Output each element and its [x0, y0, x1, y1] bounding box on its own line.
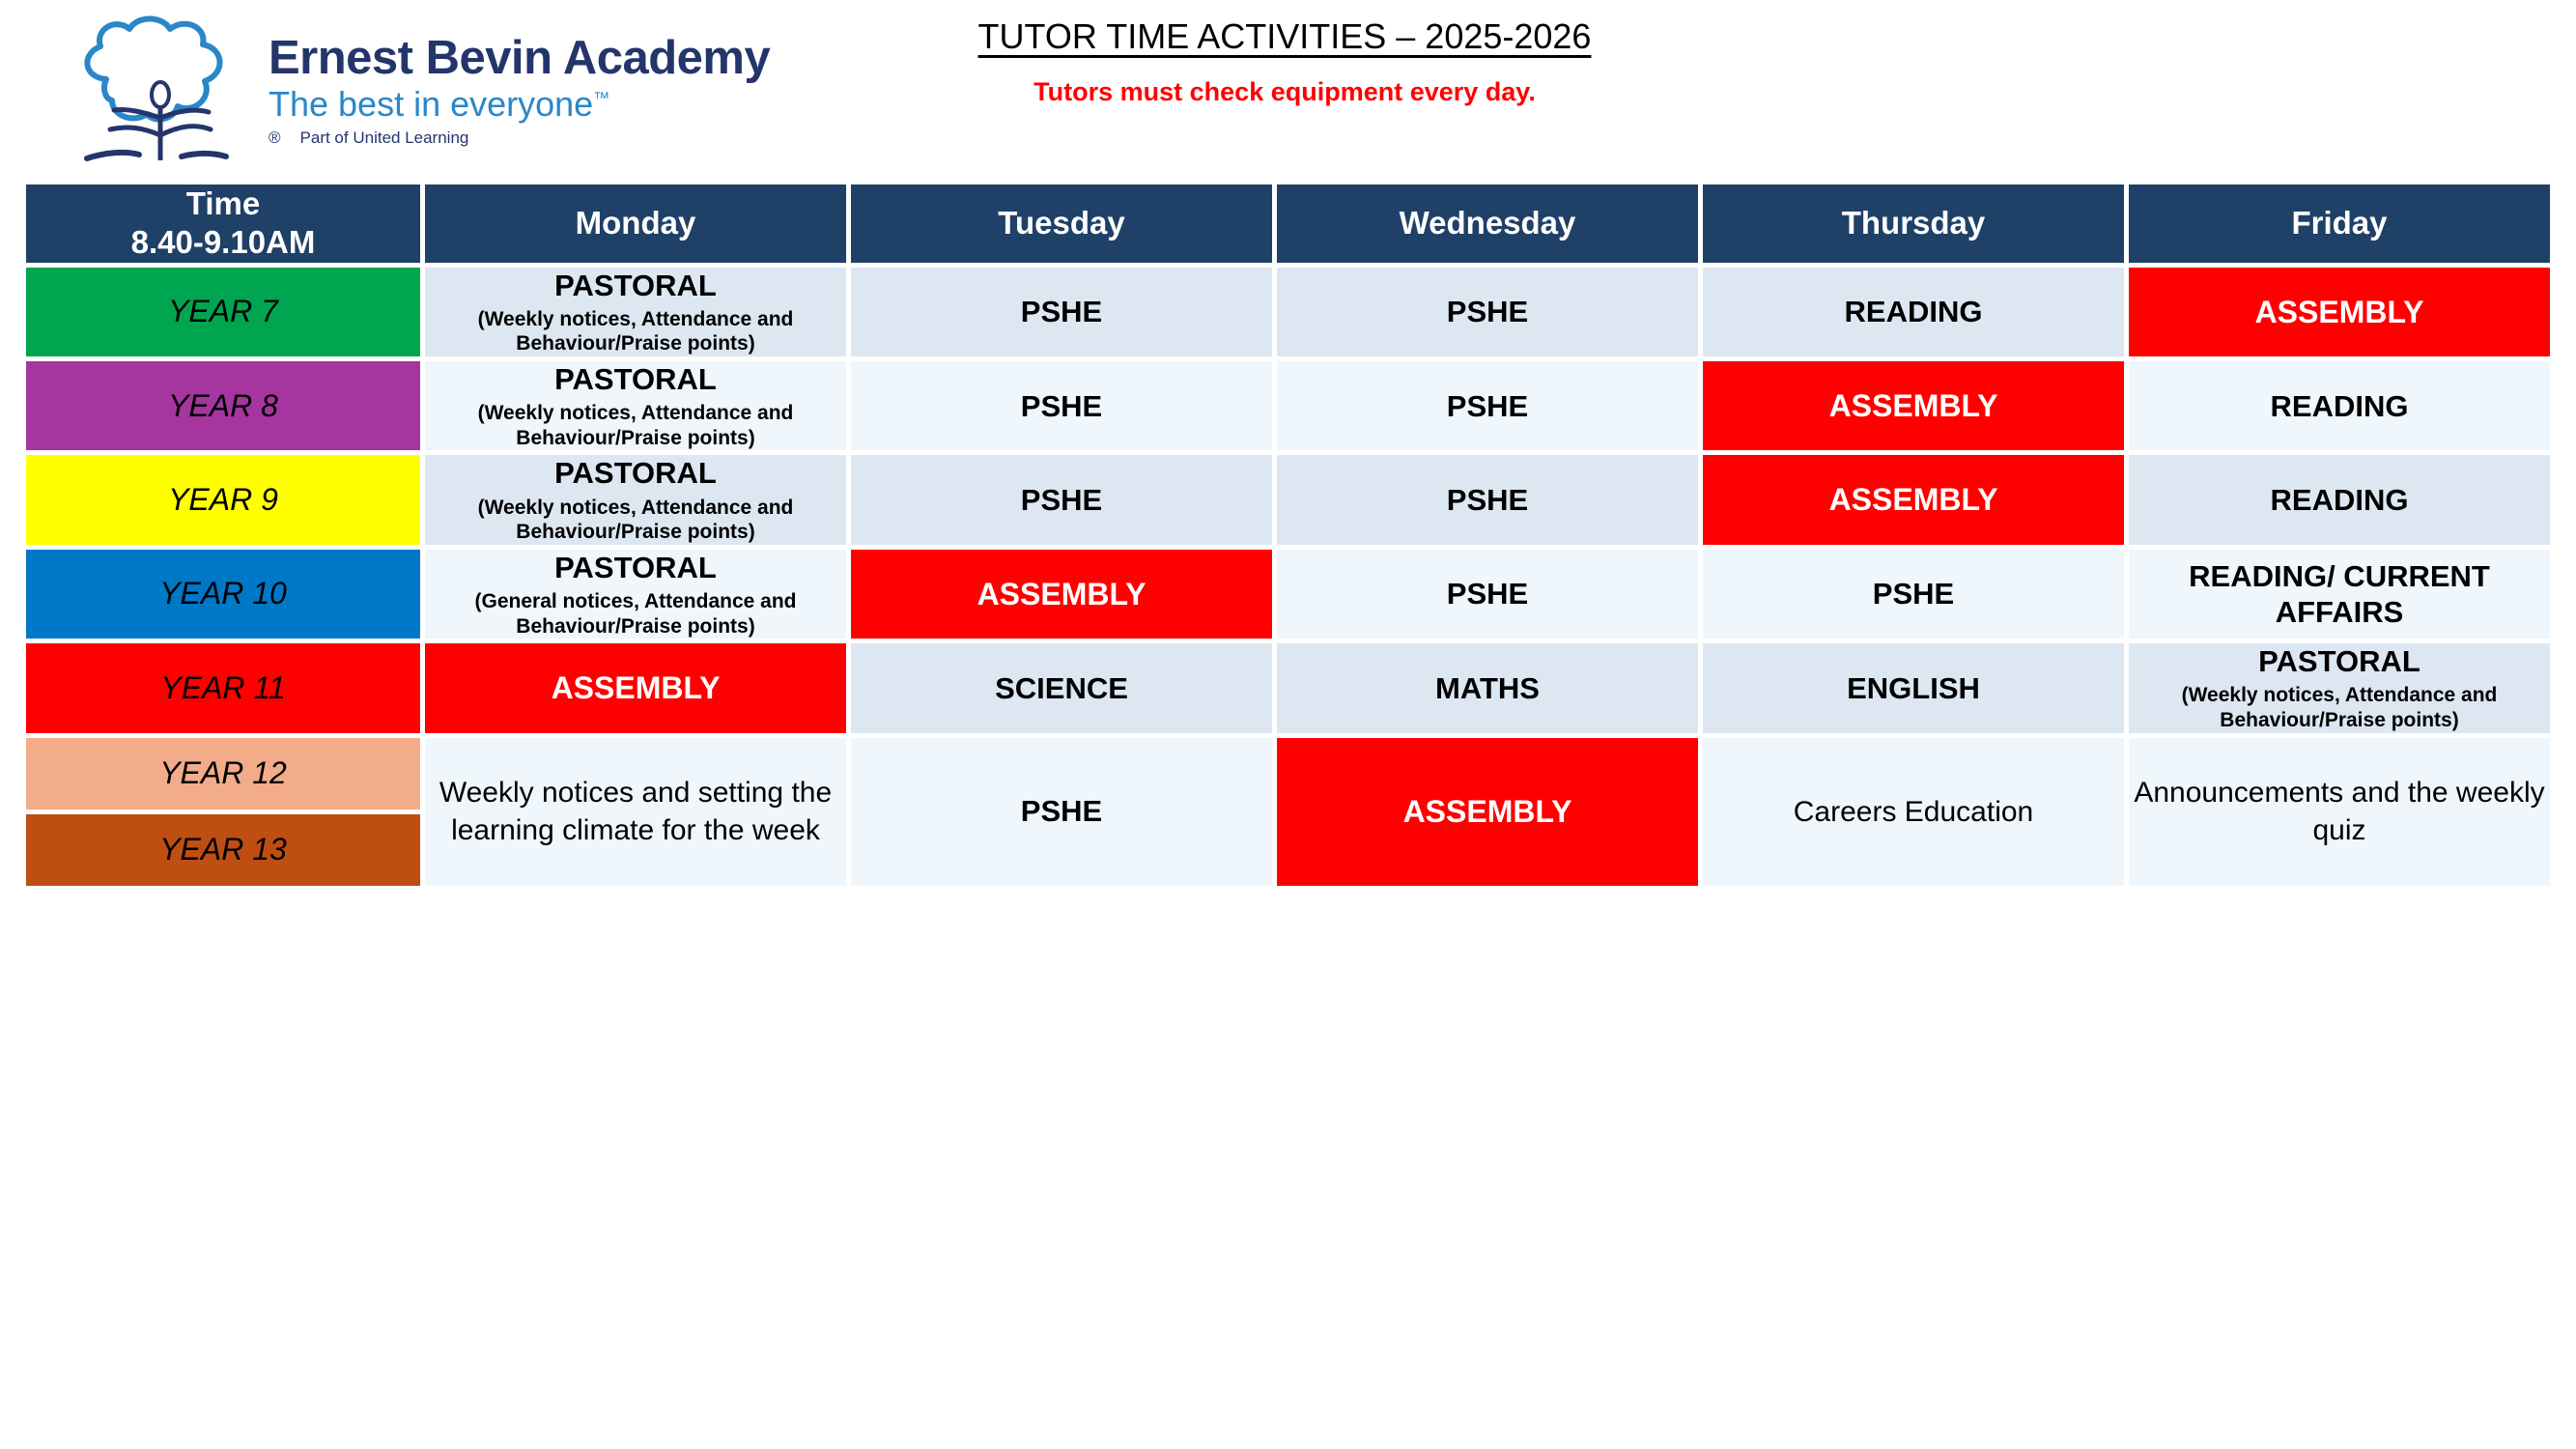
cell-year9-monday: PASTORAL (Weekly notices, Attendance and…	[425, 455, 846, 544]
cell-year11-friday: PASTORAL (Weekly notices, Attendance and…	[2129, 643, 2550, 732]
year-label-year10: YEAR 10	[26, 550, 420, 639]
tutor-time-timetable: Time 8.40-9.10AM Monday Tuesday Wednesda…	[21, 180, 2555, 891]
cell-year9-tuesday: PSHE	[851, 455, 1272, 544]
column-header-time: Time 8.40-9.10AM	[26, 185, 420, 263]
table-row: YEAR 11 ASSEMBLY SCIENCE MATHS ENGLISH P…	[26, 643, 2550, 732]
cell-year7-wednesday: PSHE	[1277, 268, 1698, 356]
column-header-friday: Friday	[2129, 185, 2550, 263]
cell-sixthform-thursday: Careers Education	[1703, 738, 2124, 886]
activity-title: PASTORAL	[2258, 644, 2420, 678]
tree-person-logo-icon	[66, 14, 259, 168]
cell-year10-wednesday: PSHE	[1277, 550, 1698, 639]
cell-year8-monday: PASTORAL (Weekly notices, Attendance and…	[425, 361, 846, 450]
cell-year9-friday: READING	[2129, 455, 2550, 544]
cell-year11-tuesday: SCIENCE	[851, 643, 1272, 732]
column-header-thursday: Thursday	[1703, 185, 2124, 263]
activity-note: (Weekly notices, Attendance and Behaviou…	[425, 496, 846, 545]
registered-mark-icon: ®	[269, 128, 281, 148]
timetable-head: Time 8.40-9.10AM Monday Tuesday Wednesda…	[26, 185, 2550, 263]
time-header-line1: Time	[26, 185, 420, 223]
cell-year10-thursday: PSHE	[1703, 550, 2124, 639]
table-row: YEAR 8 PASTORAL (Weekly notices, Attenda…	[26, 361, 2550, 450]
header-row: Time 8.40-9.10AM Monday Tuesday Wednesda…	[26, 185, 2550, 263]
cell-year7-monday: PASTORAL (Weekly notices, Attendance and…	[425, 268, 846, 356]
logo-sub-row: ® Part of United Learning	[269, 128, 770, 148]
cell-year8-tuesday: PSHE	[851, 361, 1272, 450]
cell-year11-monday: ASSEMBLY	[425, 643, 846, 732]
year-label-year9: YEAR 9	[26, 455, 420, 544]
activity-title: PASTORAL	[554, 551, 717, 584]
activity-title: PASTORAL	[554, 269, 717, 302]
logo-text-block: Ernest Bevin Academy The best in everyon…	[269, 14, 770, 148]
cell-sixthform-wednesday: ASSEMBLY	[1277, 738, 1698, 886]
cell-year11-wednesday: MATHS	[1277, 643, 1698, 732]
page-header: Ernest Bevin Academy The best in everyon…	[0, 0, 2576, 180]
cell-year10-tuesday: ASSEMBLY	[851, 550, 1272, 639]
timetable-body: YEAR 7 PASTORAL (Weekly notices, Attenda…	[26, 268, 2550, 886]
cell-year7-thursday: READING	[1703, 268, 2124, 356]
cell-sixthform-monday: Weekly notices and setting the learning …	[425, 738, 846, 886]
table-row: YEAR 9 PASTORAL (Weekly notices, Attenda…	[26, 455, 2550, 544]
activity-title: PASTORAL	[554, 456, 717, 490]
cell-sixthform-tuesday: PSHE	[851, 738, 1272, 886]
cell-year8-friday: READING	[2129, 361, 2550, 450]
year-label-year7: YEAR 7	[26, 268, 420, 356]
cell-year9-wednesday: PSHE	[1277, 455, 1698, 544]
cell-year8-wednesday: PSHE	[1277, 361, 1698, 450]
title-block: TUTOR TIME ACTIVITIES – 2025-2026 Tutors…	[898, 17, 1671, 107]
activity-note: (Weekly notices, Attendance and Behaviou…	[425, 307, 846, 356]
year-label-year12: YEAR 12	[26, 738, 420, 810]
school-logo: Ernest Bevin Academy The best in everyon…	[66, 14, 770, 168]
cell-year9-thursday: ASSEMBLY	[1703, 455, 2124, 544]
cell-sixthform-friday: Announcements and the weekly quiz	[2129, 738, 2550, 886]
cell-year11-thursday: ENGLISH	[1703, 643, 2124, 732]
logo-tagline: The best in everyone™	[269, 86, 770, 123]
year-label-year13: YEAR 13	[26, 814, 420, 886]
trademark-symbol: ™	[593, 89, 609, 107]
cell-year10-monday: PASTORAL (General notices, Attendance an…	[425, 550, 846, 639]
cell-year7-friday: ASSEMBLY	[2129, 268, 2550, 356]
year-label-year11: YEAR 11	[26, 643, 420, 732]
activity-note: (Weekly notices, Attendance and Behaviou…	[2129, 683, 2550, 732]
united-learning-label: Part of United Learning	[300, 128, 469, 148]
table-row: YEAR 10 PASTORAL (General notices, Atten…	[26, 550, 2550, 639]
year-label-year8: YEAR 8	[26, 361, 420, 450]
column-header-tuesday: Tuesday	[851, 185, 1272, 263]
cell-year10-friday: READING/ CURRENT AFFAIRS	[2129, 550, 2550, 639]
cell-year7-tuesday: PSHE	[851, 268, 1272, 356]
logo-tagline-text: The best in everyone	[269, 84, 593, 124]
activity-title: PASTORAL	[554, 362, 717, 396]
activity-note: (Weekly notices, Attendance and Behaviou…	[425, 401, 846, 450]
page-title: TUTOR TIME ACTIVITIES – 2025-2026	[898, 17, 1671, 56]
page-subtitle-notice: Tutors must check equipment every day.	[898, 77, 1671, 107]
time-header-line2: 8.40-9.10AM	[26, 223, 420, 262]
column-header-monday: Monday	[425, 185, 846, 263]
logo-title: Ernest Bevin Academy	[269, 35, 770, 82]
activity-note: (General notices, Attendance and Behavio…	[425, 589, 846, 639]
table-row: YEAR 7 PASTORAL (Weekly notices, Attenda…	[26, 268, 2550, 356]
table-row: YEAR 12 Weekly notices and setting the l…	[26, 738, 2550, 810]
column-header-wednesday: Wednesday	[1277, 185, 1698, 263]
cell-year8-thursday: ASSEMBLY	[1703, 361, 2124, 450]
